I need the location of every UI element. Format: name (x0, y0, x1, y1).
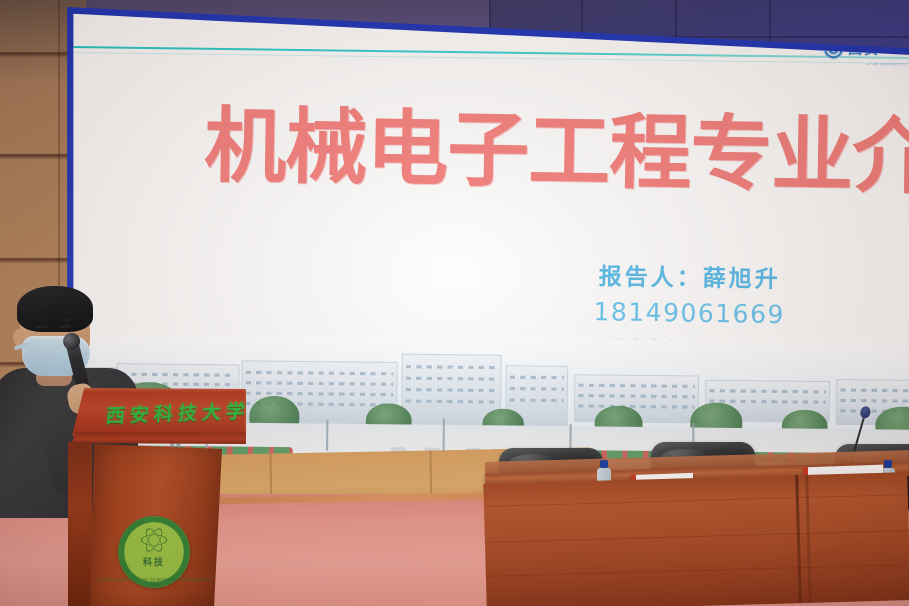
university-emblem-icon: 科技 XI'AN UNIVERSITY OF SCIENCE & TECHNOL… (118, 516, 190, 588)
conference-table-area: 寇发荣 主持人 尹 弘 (485, 420, 909, 606)
podium-left-column (68, 442, 92, 606)
atom-icon (141, 527, 167, 553)
speaker-eye (35, 325, 47, 329)
slide-presenter-line: 报告人：薛旭升 (524, 260, 854, 299)
emblem-year: 1958 (149, 582, 159, 587)
lectern-podium: 西安科技大学 科技 XI'AN UNIVERSITY OF SCIENCE & … (74, 388, 244, 606)
slide-divider-rule-secondary (70, 52, 909, 64)
speaker-eyebrow (34, 318, 48, 321)
university-wordmark-en: XI'AN UNIVERSITY (867, 62, 908, 67)
podium-top-edge (72, 432, 246, 444)
slide-phone-line: 18149061669 (524, 293, 855, 334)
speaker-hair (17, 286, 93, 332)
podium-university-name: 西安科技大学 (105, 396, 251, 428)
slide-title: 机械电子工程专业介绍 (204, 106, 909, 202)
speaker-eyebrow (58, 318, 72, 321)
lecture-hall-photo: 西安 XI'AN UNIVERSITY 机械电子工程专业介绍 报告人：薛旭升 1… (0, 0, 909, 606)
speaker-eye (59, 325, 71, 329)
table-front-panel (483, 472, 909, 606)
emblem-center-glyphs: 科技 (143, 555, 165, 568)
